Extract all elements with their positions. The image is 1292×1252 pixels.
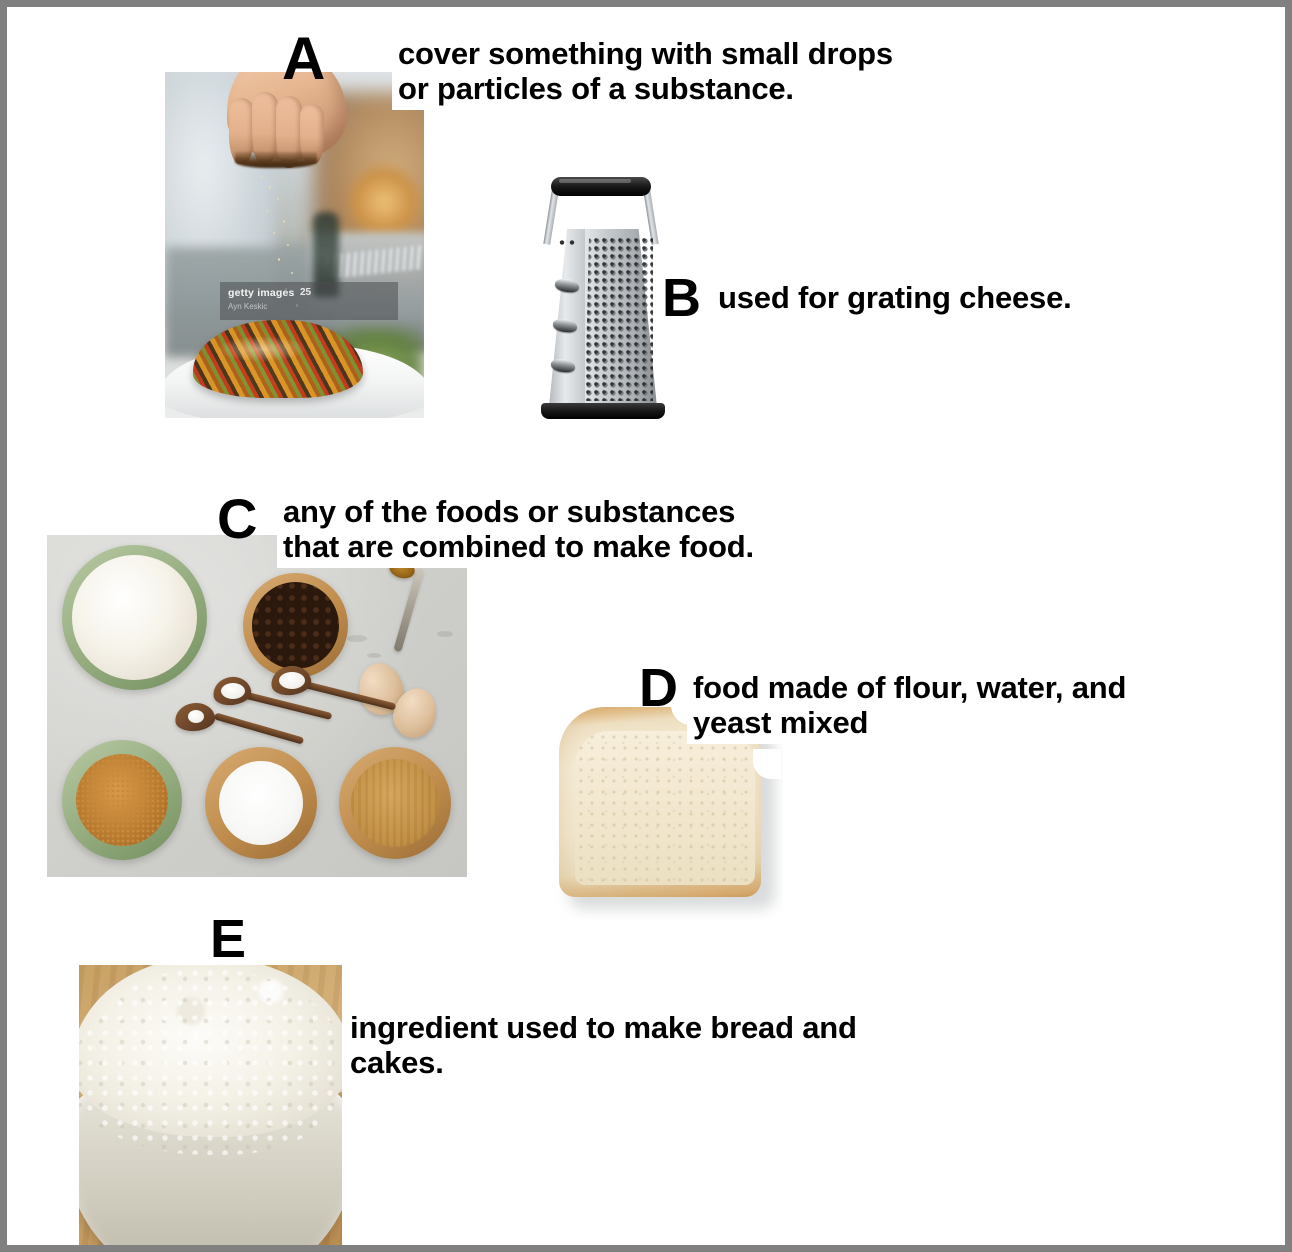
measuring-spoon-handle	[214, 712, 304, 744]
photo-a-sprinkle-particle	[273, 232, 275, 234]
brown-sugar-bowl	[62, 740, 182, 860]
photo-a-sprinkle-particle	[261, 176, 263, 178]
photo-a-food-highlight	[217, 336, 307, 362]
photo-a-warm-glow	[349, 167, 419, 237]
vanilla-spoon-handle	[393, 568, 424, 653]
item-definition-a: cover something with small drops or part…	[392, 33, 1084, 110]
bowl-of-flour-photo	[79, 965, 342, 1245]
photo-a-sprinkle-particle	[283, 220, 285, 223]
empty-wooden-bowl	[339, 747, 451, 859]
flour-bowl	[62, 545, 207, 690]
salt-in-spoon	[188, 710, 204, 723]
item-letter-b: B	[662, 271, 701, 325]
baking-ingredients-photo	[47, 535, 467, 877]
photo-a-sprinkle-particle	[269, 186, 271, 189]
grater-left-face	[549, 229, 585, 407]
flour-bowl-contents	[72, 555, 197, 680]
sprinkling-spice-over-dish-photo: getty images 25 Ayn Keskic	[165, 72, 424, 418]
photo-a-spice-on-fingers	[235, 152, 317, 168]
white-sugar-bowl	[205, 747, 317, 859]
baking-soda-in-spoon	[279, 672, 305, 689]
item-definition-d: food made of flour, water, and yeast mix…	[687, 667, 1279, 744]
item-definition-b: used for grating cheese.	[712, 277, 1244, 320]
getty-watermark-brand: getty images	[228, 287, 295, 299]
worksheet-page: getty images 25 Ayn Keskic A cover somet…	[0, 0, 1292, 1252]
worksheet-canvas: getty images 25 Ayn Keskic A cover somet…	[7, 7, 1285, 1245]
grater-arm-left	[543, 188, 559, 244]
empty-bowl-interior	[351, 759, 439, 847]
item-letter-d: D	[639, 661, 678, 715]
photo-a-sprinkle-particle	[291, 272, 293, 274]
grater-rivets	[559, 240, 575, 245]
item-letter-c: C	[217, 491, 257, 547]
photo-a-sprinkle-particle	[266, 210, 268, 212]
bread-crumb	[575, 731, 755, 885]
brown-sugar-contents	[76, 754, 168, 846]
box-grater-photo	[519, 167, 683, 425]
item-definition-e: ingredient used to make bread and cakes.	[344, 1007, 1036, 1084]
photo-a-sprinkle-particle	[277, 198, 279, 200]
flour-texture	[79, 969, 342, 1155]
getty-watermark-credit: Ayn Keskic	[228, 302, 267, 311]
getty-watermark-number: 25	[300, 287, 311, 298]
photo-c-surface-speck	[367, 653, 381, 658]
photo-a-sprinkle-particle	[287, 244, 289, 246]
photo-c-surface-speck	[437, 631, 453, 637]
item-letter-a: A	[282, 29, 325, 89]
chocolate-chips-bowl	[243, 573, 348, 678]
item-letter-e: E	[210, 912, 246, 966]
grater-holes	[585, 237, 653, 401]
photo-c-surface-speck	[347, 635, 367, 642]
chocolate-chips-contents	[252, 582, 339, 669]
white-sugar-contents	[219, 761, 303, 845]
baking-powder-in-spoon	[221, 683, 245, 699]
grater-base	[541, 403, 665, 419]
grater-handle-highlight	[559, 179, 631, 183]
getty-watermark: getty images 25 Ayn Keskic	[220, 282, 398, 320]
grater-arm-right	[643, 188, 659, 244]
photo-a-sprinkle-particle	[278, 258, 280, 261]
item-definition-c: any of the foods or substances that are …	[277, 491, 909, 568]
